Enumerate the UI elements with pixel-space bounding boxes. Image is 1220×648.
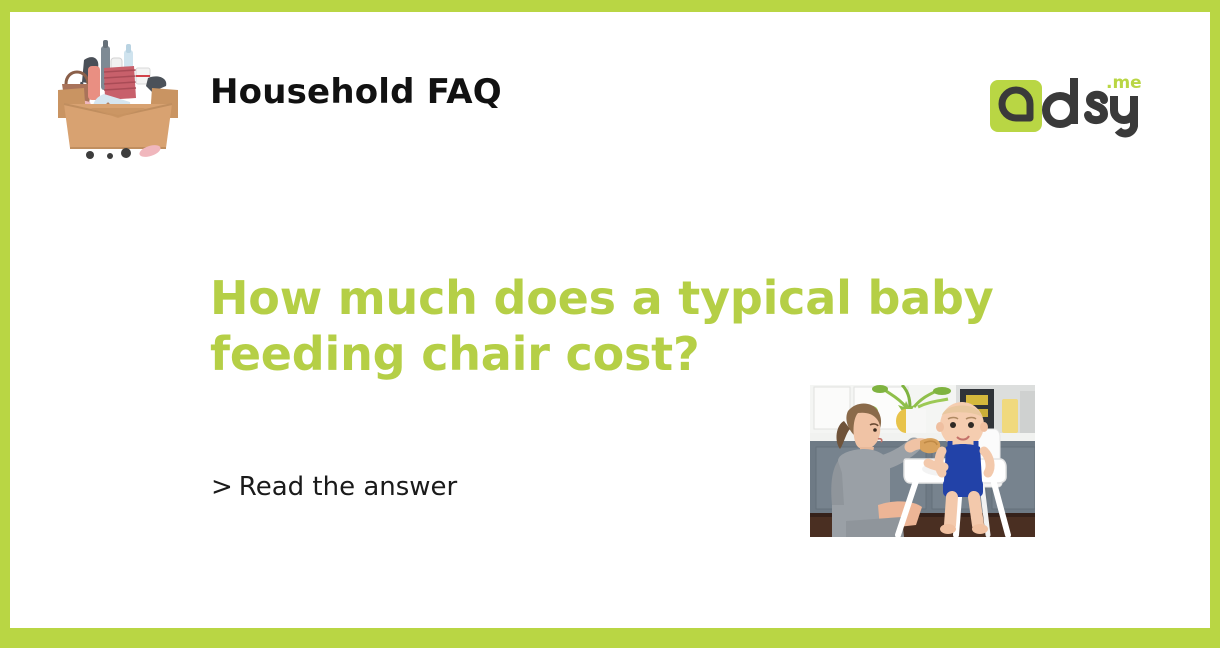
page-title: Household FAQ bbox=[210, 72, 502, 112]
adsy-logo[interactable]: .me bbox=[988, 62, 1148, 152]
card-inner: Household FAQ .me bbox=[10, 12, 1210, 628]
high-chair-photo bbox=[810, 385, 1035, 537]
read-answer-link[interactable]: >Read the answer bbox=[211, 472, 457, 502]
read-answer-label: Read the answer bbox=[239, 472, 457, 502]
faq-question-headline: How much does a typical baby feeding cha… bbox=[210, 270, 1090, 382]
household-box-icon bbox=[48, 32, 188, 162]
header: Household FAQ .me bbox=[10, 22, 1210, 172]
logo-tld-text: .me bbox=[1106, 73, 1142, 93]
chevron-right-icon: > bbox=[211, 472, 233, 502]
faq-promo-card: Household FAQ .me bbox=[0, 0, 1220, 648]
